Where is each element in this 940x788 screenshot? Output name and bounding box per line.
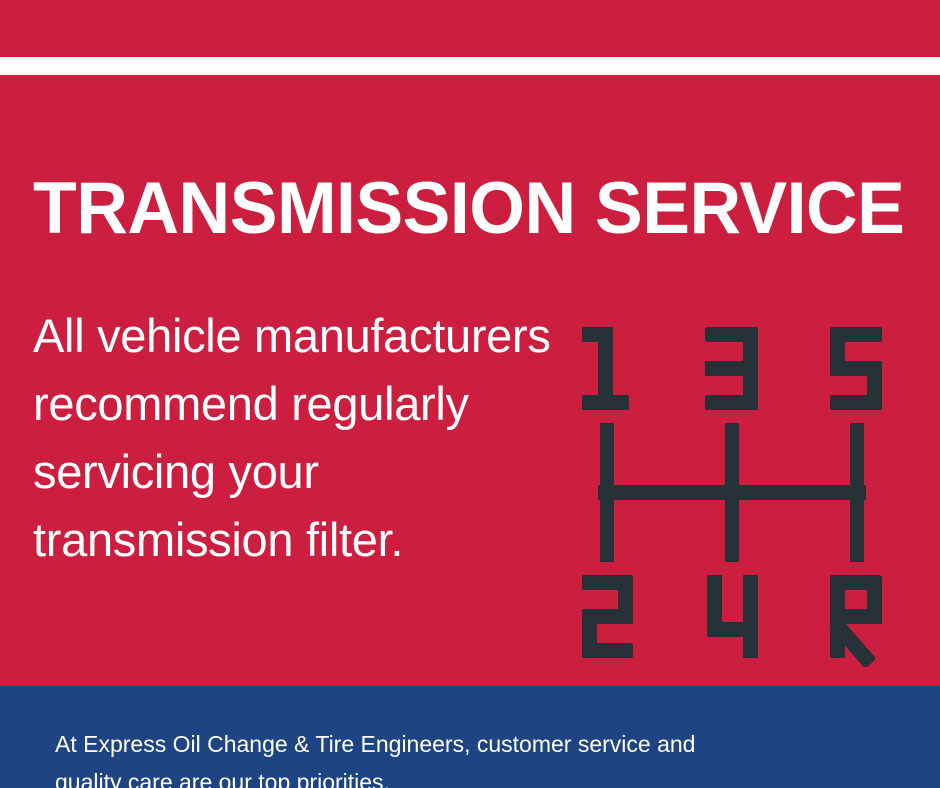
gear-label-2 — [582, 575, 633, 658]
page-title: TRANSMISSION SERVICE — [33, 170, 886, 248]
body-copy: All vehicle manufacturers recommend regu… — [33, 302, 578, 574]
gear-label-R — [828, 575, 882, 667]
shift-gate — [598, 423, 866, 562]
top-red-stripe — [0, 0, 940, 57]
gear-label-5 — [830, 327, 882, 410]
footer-tagline: At Express Oil Change & Tire Engineers, … — [55, 725, 735, 788]
gear-label-4 — [707, 575, 758, 658]
advertisement-canvas: TRANSMISSION SERVICE All vehicle manufac… — [0, 0, 940, 788]
gear-label-1 — [582, 327, 629, 410]
main-red-panel: TRANSMISSION SERVICE All vehicle manufac… — [0, 75, 940, 686]
gear-label-3 — [705, 327, 758, 410]
gear-shift-pattern-icon — [575, 247, 895, 667]
footer-banner: At Express Oil Change & Tire Engineers, … — [0, 686, 940, 788]
white-divider-stripe — [0, 57, 940, 75]
